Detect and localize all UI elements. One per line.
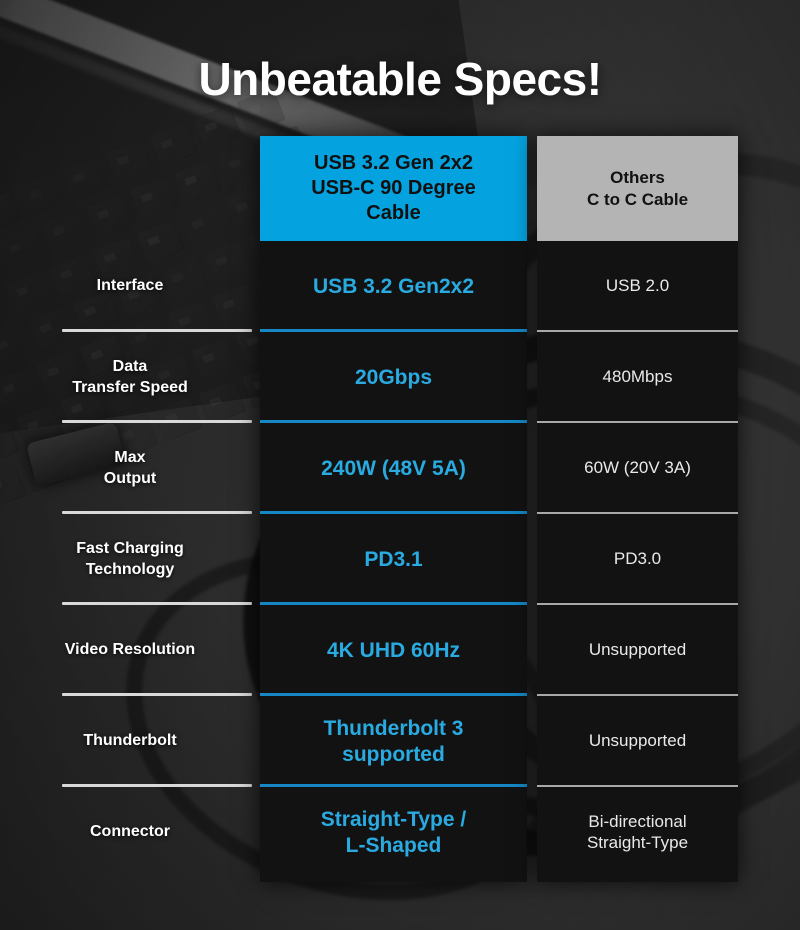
- spec-label-1: DataTransfer Speed: [0, 332, 260, 423]
- cell-highlight-5-line2: supported: [324, 742, 464, 768]
- spec-label-6: Connector: [0, 787, 260, 878]
- cell-others-3: PD3.0: [537, 514, 738, 605]
- cell-others-4: Unsupported: [537, 605, 738, 696]
- column-highlight-cells: USB 3.2 Gen2x220Gbps240W (48V 5A)PD3.14K…: [260, 241, 527, 878]
- cell-others-0: USB 2.0: [537, 241, 738, 332]
- column-others: Others C to C Cable USB 2.0480Mbps60W (2…: [537, 136, 738, 882]
- spec-label-4: Video Resolution: [0, 605, 260, 696]
- cell-highlight-5: Thunderbolt 3supported: [260, 696, 527, 787]
- column-highlight-header-line3: Cable: [311, 201, 476, 226]
- cell-highlight-3: PD3.1: [260, 514, 527, 605]
- cell-highlight-6-line1: Straight-Type /: [321, 807, 466, 833]
- spec-label-4-line1: Video Resolution: [65, 640, 195, 661]
- cell-others-2-line1: 60W (20V 3A): [584, 458, 691, 479]
- column-highlight-header-line1: USB 3.2 Gen 2x2: [311, 151, 476, 176]
- cell-highlight-6-line2: L-Shaped: [321, 833, 466, 859]
- spec-label-0: Interface: [0, 241, 260, 332]
- cell-highlight-0-line1: USB 3.2 Gen2x2: [313, 274, 474, 300]
- spec-table: InterfaceDataTransfer SpeedMaxOutputFast…: [0, 0, 800, 930]
- cell-highlight-2-line1: 240W (48V 5A): [321, 456, 466, 482]
- cell-highlight-0: USB 3.2 Gen2x2: [260, 241, 527, 332]
- cell-others-3-line1: PD3.0: [614, 549, 661, 570]
- cell-highlight-4-line1: 4K UHD 60Hz: [327, 638, 460, 664]
- cell-highlight-3-line1: PD3.1: [364, 547, 422, 573]
- cell-others-5-line1: Unsupported: [589, 731, 686, 752]
- cell-others-1: 480Mbps: [537, 332, 738, 423]
- column-others-header: Others C to C Cable: [537, 136, 738, 241]
- spec-label-3-line2: Technology: [76, 560, 184, 581]
- column-others-header-line1: Others: [587, 167, 688, 188]
- cell-others-6-line2: Straight-Type: [587, 833, 688, 854]
- page-title: Unbeatable Specs!: [0, 52, 800, 106]
- cell-others-1-line1: 480Mbps: [603, 367, 673, 388]
- cell-highlight-4: 4K UHD 60Hz: [260, 605, 527, 696]
- cell-highlight-2: 240W (48V 5A): [260, 423, 527, 514]
- column-others-cells: USB 2.0480Mbps60W (20V 3A)PD3.0Unsupport…: [537, 241, 738, 878]
- cell-others-6: Bi-directionalStraight-Type: [537, 787, 738, 878]
- spec-label-5: Thunderbolt: [0, 696, 260, 787]
- spec-label-2-line2: Output: [104, 469, 156, 490]
- cell-others-6-line1: Bi-directional: [587, 812, 688, 833]
- cell-highlight-6: Straight-Type /L-Shaped: [260, 787, 527, 878]
- cell-highlight-5-line1: Thunderbolt 3: [324, 716, 464, 742]
- cell-highlight-1-line1: 20Gbps: [355, 365, 432, 391]
- spec-label-column: InterfaceDataTransfer SpeedMaxOutputFast…: [0, 241, 260, 878]
- column-highlight-product: USB 3.2 Gen 2x2 USB-C 90 Degree Cable US…: [260, 136, 527, 882]
- column-others-header-line2: C to C Cable: [587, 189, 688, 210]
- spec-label-2-line1: Max: [104, 448, 156, 469]
- spec-label-5-line1: Thunderbolt: [83, 731, 176, 752]
- spec-label-1-line2: Transfer Speed: [72, 378, 188, 399]
- spec-label-0-line1: Interface: [97, 276, 164, 297]
- column-highlight-header-line2: USB-C 90 Degree: [311, 176, 476, 201]
- column-highlight-header: USB 3.2 Gen 2x2 USB-C 90 Degree Cable: [260, 136, 527, 241]
- cell-highlight-1: 20Gbps: [260, 332, 527, 423]
- spec-label-1-line1: Data: [72, 357, 188, 378]
- cell-others-2: 60W (20V 3A): [537, 423, 738, 514]
- spec-label-2: MaxOutput: [0, 423, 260, 514]
- spec-label-6-line1: Connector: [90, 822, 170, 843]
- cell-others-4-line1: Unsupported: [589, 640, 686, 661]
- spec-label-3: Fast ChargingTechnology: [0, 514, 260, 605]
- spec-label-3-line1: Fast Charging: [76, 539, 184, 560]
- cell-others-5: Unsupported: [537, 696, 738, 787]
- cell-others-0-line1: USB 2.0: [606, 276, 669, 297]
- spec-comparison-page: Unbeatable Specs! InterfaceDataTransfer …: [0, 0, 800, 930]
